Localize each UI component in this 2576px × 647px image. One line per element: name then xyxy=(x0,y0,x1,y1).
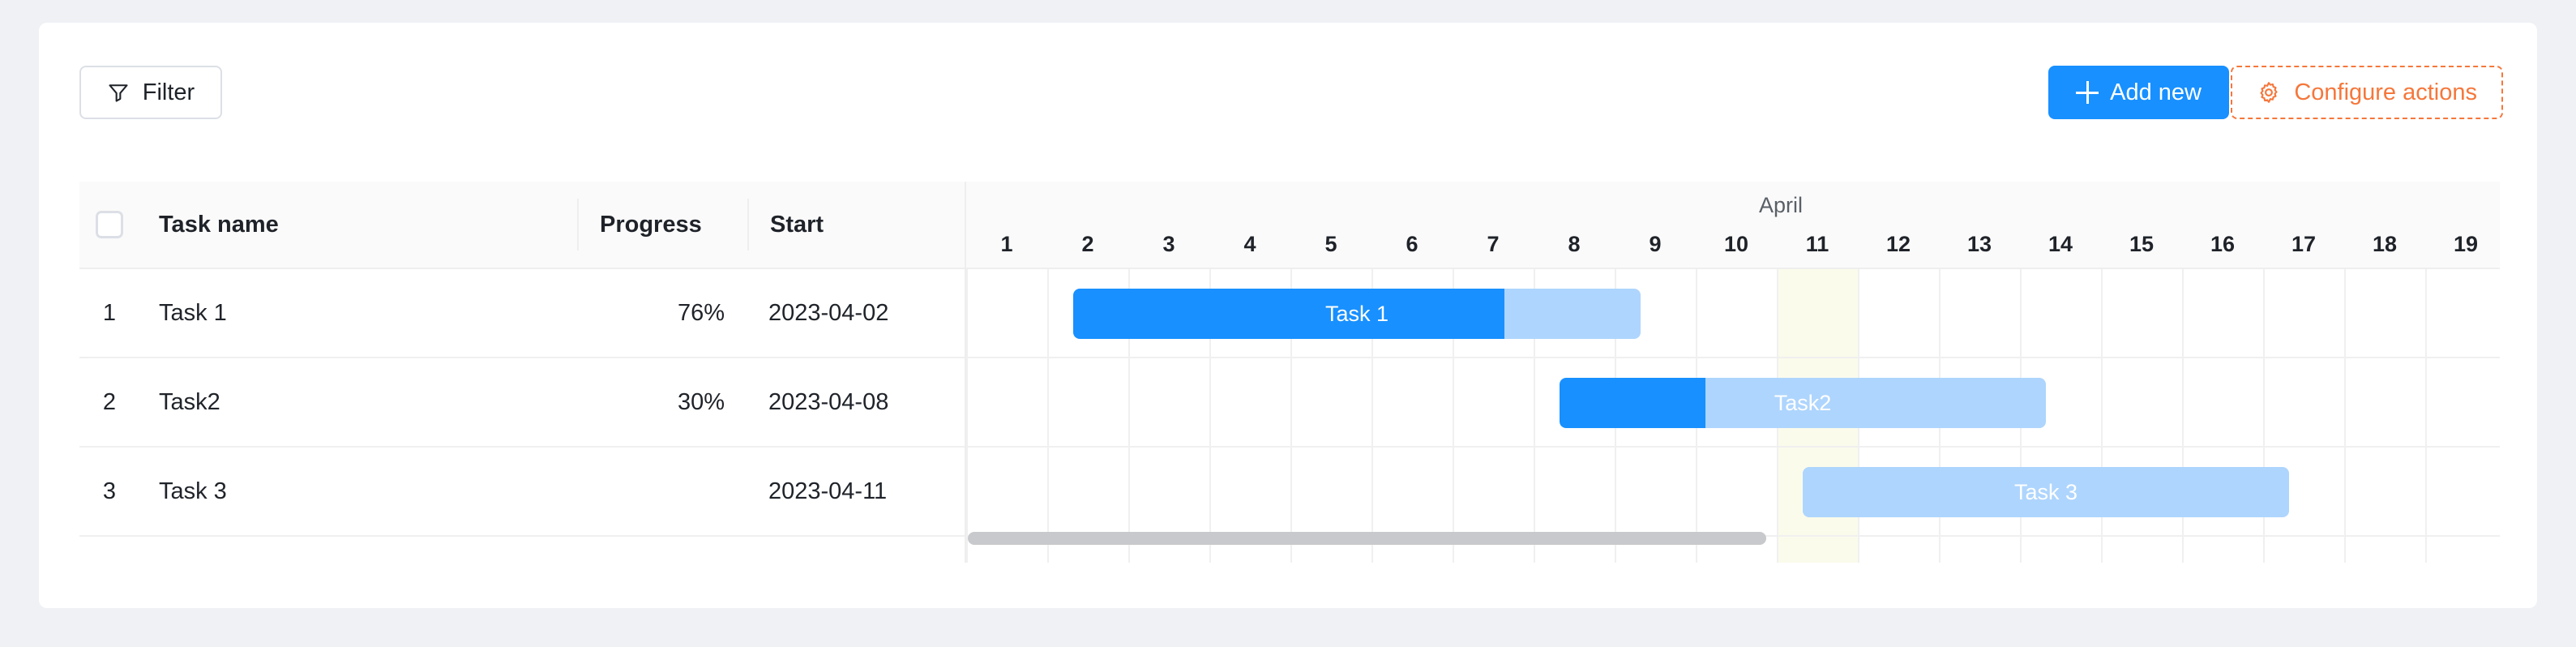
table-row[interactable]: 3Task 32023-04-11 xyxy=(79,448,965,537)
row-index: 3 xyxy=(79,478,139,505)
filter-icon xyxy=(107,81,130,104)
table-row[interactable]: 2Task230%2023-04-08 xyxy=(79,358,965,448)
timeline-scrollbar-thumb[interactable] xyxy=(968,532,1766,545)
timeline-day-label: 18 xyxy=(2373,232,2397,257)
timeline-day-label: 19 xyxy=(2454,232,2478,257)
timeline-day-label: 3 xyxy=(1162,232,1175,257)
row-index: 1 xyxy=(79,300,139,327)
filter-button[interactable]: Filter xyxy=(79,66,222,119)
row-start-date: 2023-04-02 xyxy=(747,300,965,327)
plus-icon xyxy=(2076,81,2099,104)
timeline-day-label: 8 xyxy=(1568,232,1580,257)
header-progress: Progress xyxy=(577,199,747,251)
gantt-card: Filter Add new Configure actions Ta xyxy=(39,23,2537,608)
gantt-bar-label: Task 1 xyxy=(1325,302,1389,327)
timeline-day-label: 13 xyxy=(1967,232,1992,257)
gear-icon xyxy=(2257,80,2281,105)
gantt-bar[interactable]: Task 1 xyxy=(1073,289,1641,339)
timeline-day-label: 16 xyxy=(2210,232,2235,257)
row-start-date: 2023-04-08 xyxy=(747,389,965,416)
gantt-bar-label: Task2 xyxy=(1774,391,1832,416)
gantt-bar-label: Task 3 xyxy=(2014,480,2077,505)
timeline-day-label: 4 xyxy=(1243,232,1256,257)
task-table-header: Task name Progress Start xyxy=(79,182,965,269)
gantt-bar-progress-fill xyxy=(1560,378,1705,428)
timeline-scrollbar[interactable] xyxy=(965,532,2500,545)
task-table: Task name Progress Start 1Task 176%2023-… xyxy=(79,182,965,563)
select-all-cell xyxy=(79,211,139,238)
row-start-date: 2023-04-11 xyxy=(747,478,965,505)
timeline-day-label: 12 xyxy=(1886,232,1911,257)
row-progress: 30% xyxy=(577,389,747,416)
row-task-name: Task 3 xyxy=(139,478,577,505)
add-new-button[interactable]: Add new xyxy=(2048,66,2229,119)
timeline-body: Task 1Task2Task 3 xyxy=(965,269,2500,563)
gantt-bar[interactable]: Task2 xyxy=(1560,378,2046,428)
timeline-day-label: 5 xyxy=(1324,232,1337,257)
timeline: April 12345678910111213141516171819 Task… xyxy=(965,182,2500,563)
timeline-month-label: April xyxy=(1759,193,1803,218)
gantt-grid: Task name Progress Start 1Task 176%2023-… xyxy=(39,182,2537,563)
header-task-name: Task name xyxy=(139,212,577,238)
row-index: 2 xyxy=(79,389,139,416)
toolbar: Filter Add new Configure actions xyxy=(39,23,2537,122)
timeline-day-label: 7 xyxy=(1487,232,1499,257)
row-progress: 76% xyxy=(577,300,747,327)
filter-button-label: Filter xyxy=(143,79,195,106)
timeline-day-label: 17 xyxy=(2291,232,2316,257)
timeline-day-label: 9 xyxy=(1649,232,1661,257)
timeline-day-label: 14 xyxy=(2048,232,2073,257)
timeline-day-label: 11 xyxy=(1806,232,1829,257)
row-task-name: Task2 xyxy=(139,389,577,416)
timeline-day-label: 1 xyxy=(1000,232,1012,257)
select-all-checkbox[interactable] xyxy=(96,211,123,238)
add-new-button-label: Add new xyxy=(2110,79,2202,106)
header-start: Start xyxy=(747,199,965,251)
table-row[interactable]: 1Task 176%2023-04-02 xyxy=(79,269,965,358)
configure-actions-button[interactable]: Configure actions xyxy=(2231,66,2503,119)
gantt-bar-progress-fill xyxy=(1073,289,1504,339)
timeline-day-label: 15 xyxy=(2129,232,2154,257)
timeline-day-label: 10 xyxy=(1724,232,1748,257)
row-task-name: Task 1 xyxy=(139,300,577,327)
timeline-day-label: 6 xyxy=(1406,232,1418,257)
timeline-day-label: 2 xyxy=(1081,232,1093,257)
timeline-header: April 12345678910111213141516171819 xyxy=(965,182,2500,269)
configure-actions-label: Configure actions xyxy=(2294,79,2477,106)
gantt-bar[interactable]: Task 3 xyxy=(1803,467,2289,517)
